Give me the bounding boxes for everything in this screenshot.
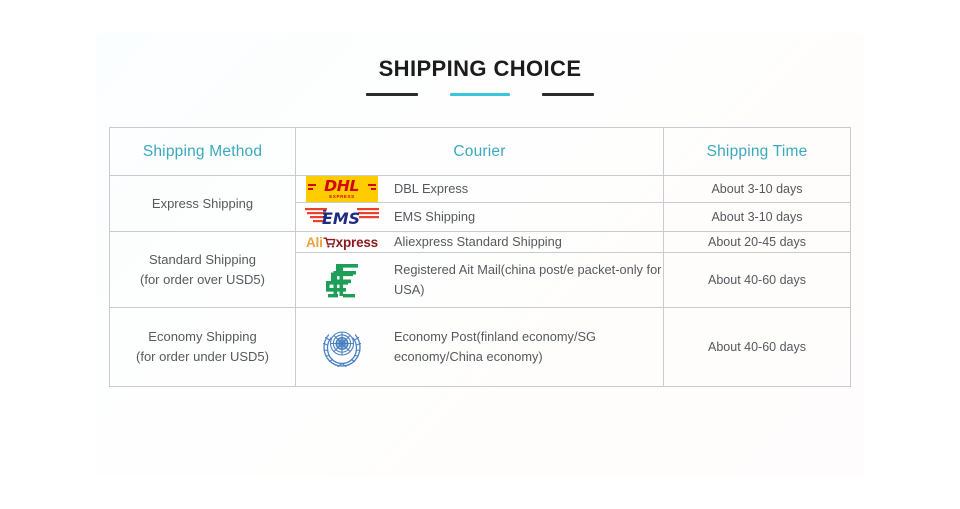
method-label-line1: Express Shipping xyxy=(110,194,295,214)
column-header-shipping-time: Shipping Time xyxy=(664,128,851,176)
method-label-line2: (for order over USD5) xyxy=(110,270,295,290)
method-cell-express: Express Shipping xyxy=(110,176,296,232)
method-cell-economy: Economy Shipping (for order under USD5) xyxy=(110,308,296,387)
method-label-line1: Economy Shipping xyxy=(110,327,295,347)
title-rule-left xyxy=(366,93,418,96)
dhl-wordmark: DHL xyxy=(325,179,360,193)
aliexpress-wordmark-ali: Ali xyxy=(306,235,323,250)
table-header: Shipping Method Courier Shipping Time xyxy=(110,128,851,176)
china-post-logo xyxy=(322,261,362,299)
courier-cell-aliexpress: Ali xyxy=(296,232,664,253)
shipping-time-cell: About 3-10 days xyxy=(664,176,851,203)
shipping-time-cell: About 3-10 days xyxy=(664,203,851,232)
shipping-time-cell: About 40-60 days xyxy=(664,308,851,387)
courier-cell-china-post: Registered Ait Mail(china post/e packet-… xyxy=(296,253,664,308)
table-body: Express Shipping DHL EXPRESS xyxy=(110,176,851,387)
courier-name: Aliexpress Standard Shipping xyxy=(388,232,562,252)
shipping-time-cell: About 20-45 days xyxy=(664,232,851,253)
courier-name: DBL Express xyxy=(388,179,468,199)
table-header-row: Shipping Method Courier Shipping Time xyxy=(110,128,851,176)
column-header-courier: Courier xyxy=(296,128,664,176)
shopping-cart-icon xyxy=(323,236,336,249)
courier-name: Economy Post(finland economy/SG economy/… xyxy=(388,327,663,367)
courier-name: Registered Ait Mail(china post/e packet-… xyxy=(388,260,663,300)
method-label-line1: Standard Shipping xyxy=(110,250,295,270)
dhl-streak-icon xyxy=(308,188,313,190)
courier-cell-ems: EMS EMS Shipping xyxy=(296,203,664,232)
dhl-streak-icon xyxy=(368,184,376,186)
page-title-block: SHIPPING CHOICE xyxy=(0,55,960,96)
aliexpress-logo: Ali xyxy=(306,235,378,250)
table-row: Standard Shipping (for order over USD5) … xyxy=(110,232,851,253)
dhl-logo: DHL EXPRESS xyxy=(306,176,378,202)
courier-cell-dhl: DHL EXPRESS DBL Express xyxy=(296,176,664,203)
dhl-streak-icon xyxy=(371,188,376,190)
aliexpress-wordmark-xpress: xpress xyxy=(336,235,378,250)
page-title: SHIPPING CHOICE xyxy=(0,55,960,83)
title-rule-accent xyxy=(450,93,510,96)
ems-logo: EMS xyxy=(305,203,379,231)
logo-slot: Ali xyxy=(296,235,388,250)
logo-slot: DHL EXPRESS xyxy=(296,176,388,202)
title-rule-right xyxy=(542,93,594,96)
logo-slot xyxy=(296,261,388,299)
column-header-shipping-method: Shipping Method xyxy=(110,128,296,176)
shipping-time-cell: About 40-60 days xyxy=(664,253,851,308)
dhl-streak-icon xyxy=(308,184,316,186)
logo-slot: EMS xyxy=(296,203,388,231)
un-post-logo xyxy=(318,323,366,371)
table-row: Economy Shipping (for order under USD5) xyxy=(110,308,851,387)
shipping-table: Shipping Method Courier Shipping Time Ex… xyxy=(109,127,851,387)
method-label-line2: (for order under USD5) xyxy=(110,347,295,367)
method-cell-standard: Standard Shipping (for order over USD5) xyxy=(110,232,296,308)
title-underline-group xyxy=(0,93,960,96)
svg-text:EMS: EMS xyxy=(322,209,360,228)
logo-slot xyxy=(296,323,388,371)
table-row: Express Shipping DHL EXPRESS xyxy=(110,176,851,203)
shipping-choice-page: SHIPPING CHOICE Shipping Method Courier … xyxy=(0,0,960,509)
courier-name: EMS Shipping xyxy=(388,207,475,227)
courier-cell-un-post: Economy Post(finland economy/SG economy/… xyxy=(296,308,664,387)
